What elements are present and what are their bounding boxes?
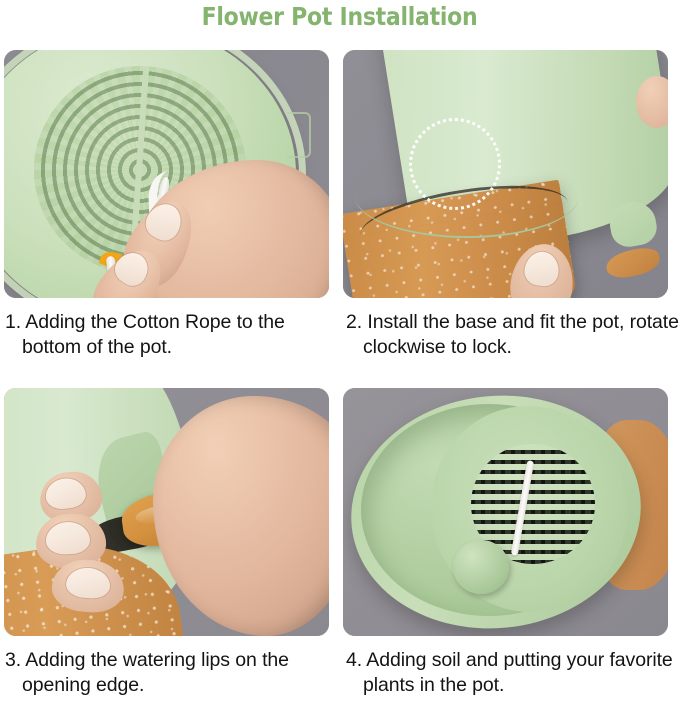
step-4-photo [343,388,668,636]
step-3: 3. Adding the watering lips on the openi… [0,382,340,701]
step-3-caption: 3. Adding the watering lips on the openi… [5,648,346,698]
fingernail [44,477,87,511]
steps-grid: 1. Adding the Cotton Rope to the bottom … [0,44,679,701]
highlight-circle-annotation [409,118,501,210]
step-1-caption: 1. Adding the Cotton Rope to the bottom … [5,310,346,360]
step-1: 1. Adding the Cotton Rope to the bottom … [0,44,340,382]
step-1-photo [4,50,329,298]
pot-knob [453,540,509,594]
fingernail [65,567,111,600]
step-4-caption: 4. Adding soil and putting your favorite… [346,648,679,698]
step-2: 2. Install the base and fit the pot, rot… [340,44,679,382]
fingernail [45,521,90,555]
step-2-caption: 2. Install the base and fit the pot, rot… [346,310,679,360]
page-title: Flower Pot Installation [41,0,639,36]
fingernail [523,250,561,288]
step-3-photo [4,388,329,636]
pot-notch [287,112,311,158]
step-4: 4. Adding soil and putting your favorite… [340,382,679,701]
step-2-photo [343,50,668,298]
